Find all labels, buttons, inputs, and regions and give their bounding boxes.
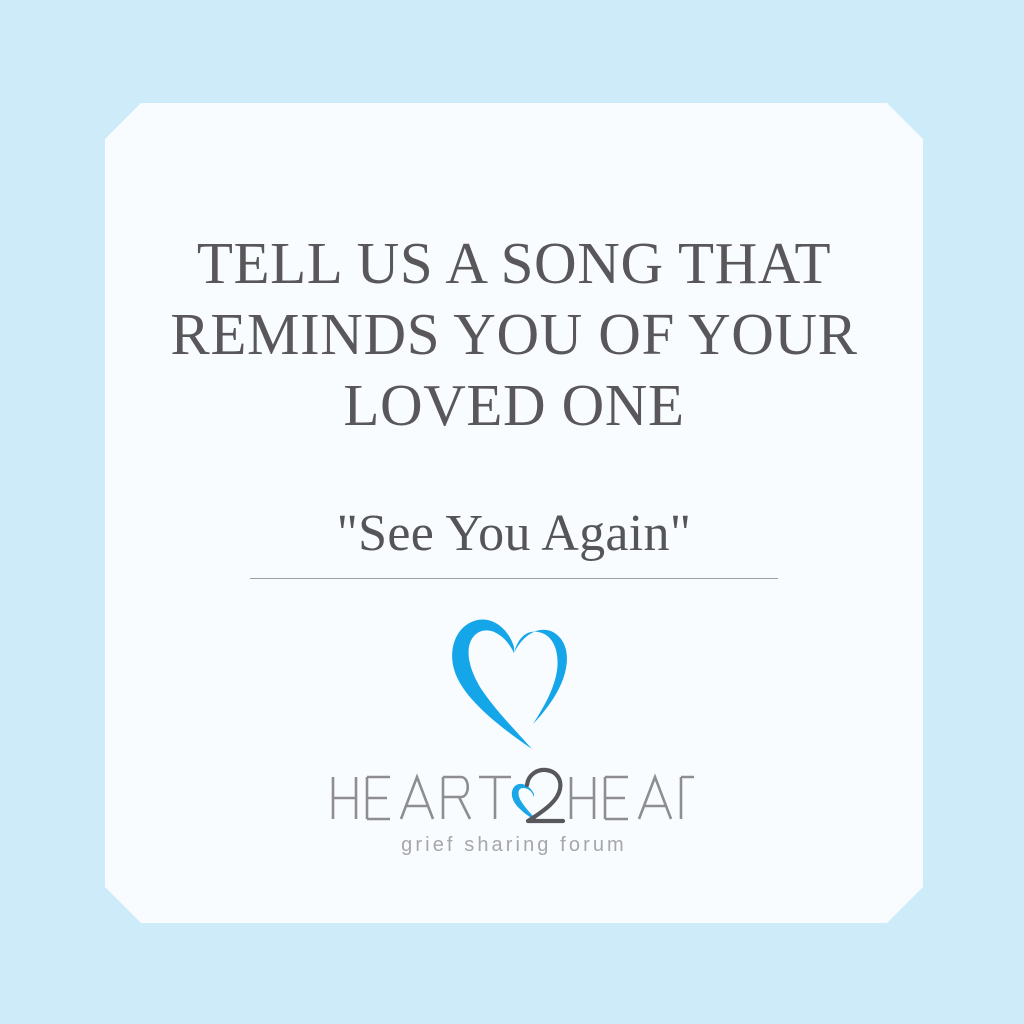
content-card: TELL US A SONG THAT REMINDS YOU OF YOUR …	[105, 103, 923, 923]
brand-logo: grief sharing forum	[105, 611, 923, 857]
open-heart-outline-icon	[446, 611, 582, 755]
heart2heart-wordmark	[329, 763, 699, 825]
page-title: TELL US A SONG THAT REMINDS YOU OF YOUR …	[105, 228, 923, 441]
wordmark-numeral-two	[527, 770, 563, 821]
poster-canvas: TELL US A SONG THAT REMINDS YOU OF YOUR …	[0, 0, 1024, 1024]
song-answer-text: "See You Again"	[105, 503, 923, 565]
answer-divider	[250, 578, 778, 579]
brand-tagline: grief sharing forum	[401, 834, 627, 857]
song-answer-block: "See You Again"	[105, 503, 923, 579]
